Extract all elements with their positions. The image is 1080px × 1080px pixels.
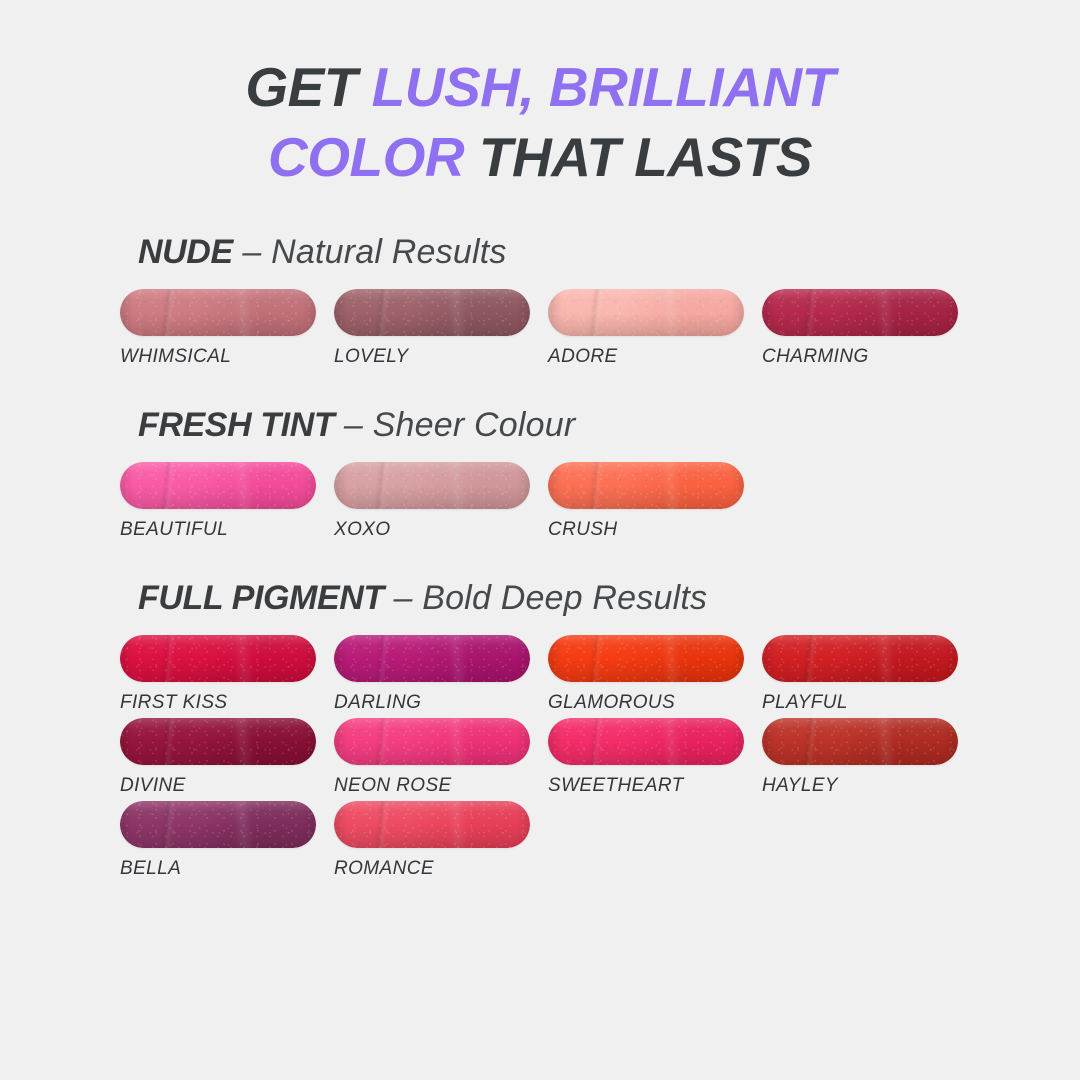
shade-label-playful: PLAYFUL bbox=[762, 692, 958, 714]
headline-line-2: COLOR THAT LASTS bbox=[0, 122, 1080, 192]
shade-swatch-beautiful[interactable] bbox=[120, 462, 316, 509]
swatch-edge-shadow bbox=[548, 289, 744, 336]
shade-groups: NUDE – Natural ResultsWHIMSICALLOVELYADO… bbox=[0, 235, 1080, 880]
shade-swatch-romance[interactable] bbox=[334, 801, 530, 848]
shade-label-adore: ADORE bbox=[548, 346, 744, 368]
shade-label-lovely: LOVELY bbox=[334, 346, 530, 368]
swatch-cell-whimsical[interactable]: WHIMSICAL bbox=[120, 289, 316, 368]
headline-line-1: GET LUSH, BRILLIANT bbox=[0, 52, 1080, 122]
shade-swatch-charming[interactable] bbox=[762, 289, 958, 336]
headline-text-lush-brilliant: LUSH, BRILLIANT bbox=[372, 56, 835, 118]
swatch-cell-darling[interactable]: DARLING bbox=[334, 635, 530, 714]
swatch-edge-shadow bbox=[120, 635, 316, 682]
group-name: FULL PIGMENT bbox=[138, 579, 384, 617]
swatch-cell-bella[interactable]: BELLA bbox=[120, 801, 316, 880]
shade-swatch-bella[interactable] bbox=[120, 801, 316, 848]
group-heading-fresh-tint: FRESH TINT – Sheer Colour bbox=[138, 408, 1080, 442]
swatch-cell-sweetheart[interactable]: SWEETHEART bbox=[548, 718, 744, 797]
swatch-edge-shadow bbox=[762, 289, 958, 336]
swatch-edge-shadow bbox=[120, 462, 316, 509]
shade-label-xoxo: XOXO bbox=[334, 519, 530, 541]
shade-swatch-sweetheart[interactable] bbox=[548, 718, 744, 765]
shade-swatch-neon-rose[interactable] bbox=[334, 718, 530, 765]
shade-label-darling: DARLING bbox=[334, 692, 530, 714]
shade-chart-page: { "theme": { "background": "#f0f0f0", "d… bbox=[0, 0, 1080, 1080]
group-name: FRESH TINT bbox=[138, 406, 334, 444]
shade-group-full-pigment: FULL PIGMENT – Bold Deep ResultsFIRST KI… bbox=[120, 581, 1080, 880]
shade-label-crush: CRUSH bbox=[548, 519, 744, 541]
shade-group-nude: NUDE – Natural ResultsWHIMSICALLOVELYADO… bbox=[120, 235, 1080, 368]
swatch-edge-shadow bbox=[334, 718, 530, 765]
swatch-grid-full-pigment: FIRST KISSDARLINGGLAMOROUSPLAYFULDIVINEN… bbox=[120, 635, 1080, 880]
shade-label-hayley: HAYLEY bbox=[762, 775, 958, 797]
swatch-cell-lovely[interactable]: LOVELY bbox=[334, 289, 530, 368]
swatch-cell-xoxo[interactable]: XOXO bbox=[334, 462, 530, 541]
swatch-cell-romance[interactable]: ROMANCE bbox=[334, 801, 530, 880]
group-description: – Bold Deep Results bbox=[384, 579, 707, 617]
swatch-grid-nude: WHIMSICALLOVELYADORECHARMING bbox=[120, 289, 1080, 368]
shade-label-whimsical: WHIMSICAL bbox=[120, 346, 316, 368]
shade-swatch-whimsical[interactable] bbox=[120, 289, 316, 336]
group-description: – Natural Results bbox=[233, 233, 507, 271]
shade-group-fresh-tint: FRESH TINT – Sheer ColourBEAUTIFULXOXOCR… bbox=[120, 408, 1080, 541]
swatch-cell-adore[interactable]: ADORE bbox=[548, 289, 744, 368]
shade-swatch-darling[interactable] bbox=[334, 635, 530, 682]
group-description: – Sheer Colour bbox=[334, 406, 575, 444]
swatch-edge-shadow bbox=[120, 801, 316, 848]
swatch-cell-hayley[interactable]: HAYLEY bbox=[762, 718, 958, 797]
shade-label-divine: DIVINE bbox=[120, 775, 316, 797]
swatch-edge-shadow bbox=[548, 718, 744, 765]
swatch-edge-shadow bbox=[120, 289, 316, 336]
swatch-cell-divine[interactable]: DIVINE bbox=[120, 718, 316, 797]
swatch-cell-first-kiss[interactable]: FIRST KISS bbox=[120, 635, 316, 714]
shade-swatch-adore[interactable] bbox=[548, 289, 744, 336]
group-heading-nude: NUDE – Natural Results bbox=[138, 235, 1080, 269]
swatch-cell-charming[interactable]: CHARMING bbox=[762, 289, 958, 368]
swatch-edge-shadow bbox=[334, 462, 530, 509]
shade-label-glamorous: GLAMOROUS bbox=[548, 692, 744, 714]
swatch-cell-glamorous[interactable]: GLAMOROUS bbox=[548, 635, 744, 714]
headline-text-color: COLOR bbox=[268, 126, 479, 188]
shade-swatch-hayley[interactable] bbox=[762, 718, 958, 765]
shade-swatch-lovely[interactable] bbox=[334, 289, 530, 336]
swatch-edge-shadow bbox=[334, 801, 530, 848]
shade-swatch-glamorous[interactable] bbox=[548, 635, 744, 682]
shade-label-beautiful: BEAUTIFUL bbox=[120, 519, 316, 541]
swatch-edge-shadow bbox=[120, 718, 316, 765]
headline-text-that-lasts: THAT LASTS bbox=[479, 126, 812, 188]
swatch-edge-shadow bbox=[334, 289, 530, 336]
shade-label-charming: CHARMING bbox=[762, 346, 958, 368]
shade-label-sweetheart: SWEETHEART bbox=[548, 775, 744, 797]
shade-label-romance: ROMANCE bbox=[334, 858, 530, 880]
shade-swatch-crush[interactable] bbox=[548, 462, 744, 509]
swatch-cell-beautiful[interactable]: BEAUTIFUL bbox=[120, 462, 316, 541]
headline-text-get: GET bbox=[245, 56, 371, 118]
swatch-edge-shadow bbox=[762, 718, 958, 765]
swatch-edge-shadow bbox=[334, 635, 530, 682]
shade-label-bella: BELLA bbox=[120, 858, 316, 880]
swatch-grid-fresh-tint: BEAUTIFULXOXOCRUSH bbox=[120, 462, 1080, 541]
page-headline: GET LUSH, BRILLIANT COLOR THAT LASTS bbox=[0, 0, 1080, 193]
shade-label-neon-rose: NEON ROSE bbox=[334, 775, 530, 797]
shade-label-first-kiss: FIRST KISS bbox=[120, 692, 316, 714]
swatch-edge-shadow bbox=[548, 635, 744, 682]
swatch-cell-neon-rose[interactable]: NEON ROSE bbox=[334, 718, 530, 797]
group-name: NUDE bbox=[138, 233, 233, 271]
shade-swatch-divine[interactable] bbox=[120, 718, 316, 765]
swatch-cell-playful[interactable]: PLAYFUL bbox=[762, 635, 958, 714]
shade-swatch-first-kiss[interactable] bbox=[120, 635, 316, 682]
swatch-edge-shadow bbox=[762, 635, 958, 682]
shade-swatch-xoxo[interactable] bbox=[334, 462, 530, 509]
shade-swatch-playful[interactable] bbox=[762, 635, 958, 682]
group-heading-full-pigment: FULL PIGMENT – Bold Deep Results bbox=[138, 581, 1080, 615]
swatch-edge-shadow bbox=[548, 462, 744, 509]
swatch-cell-crush[interactable]: CRUSH bbox=[548, 462, 744, 541]
